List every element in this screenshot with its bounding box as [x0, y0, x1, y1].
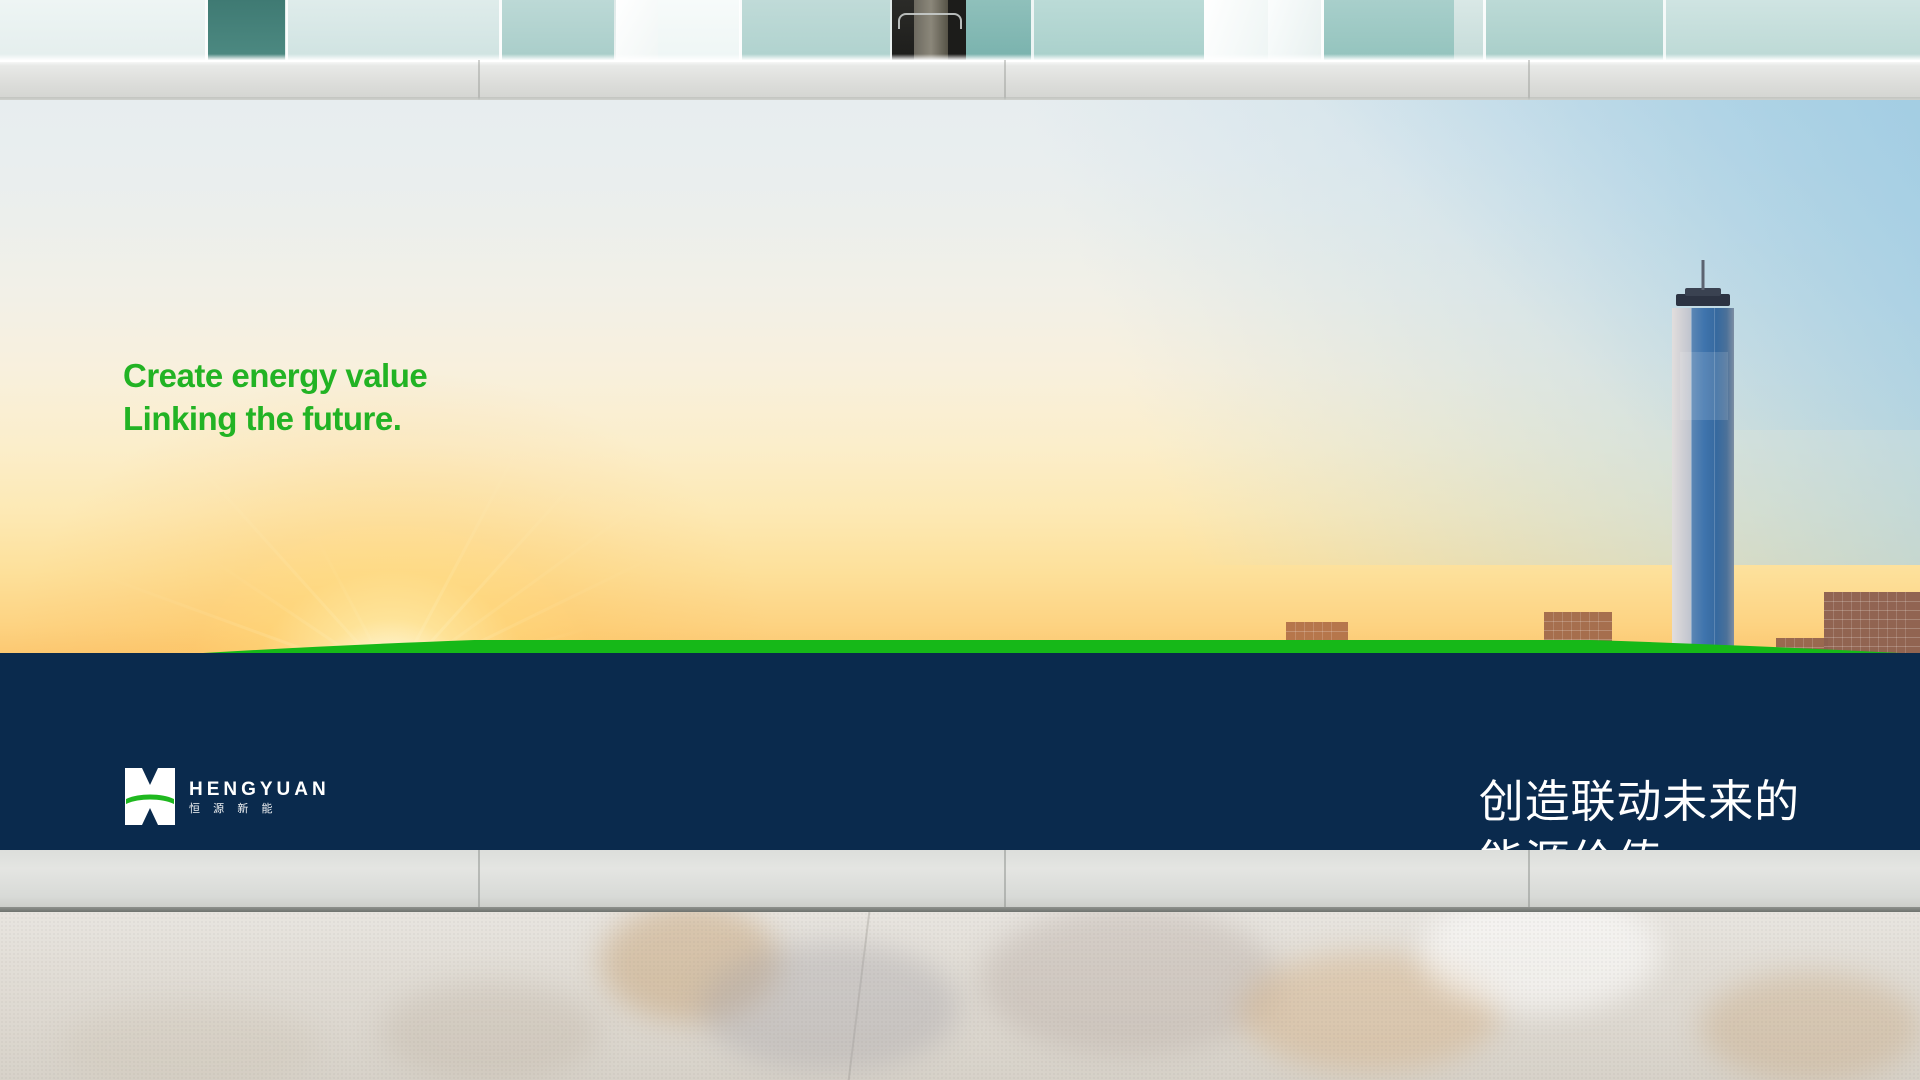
tagline: Create energy value Linking the future. — [123, 355, 427, 440]
billboard-scene: Create energy value Linking the future. … — [0, 0, 1920, 1080]
upper-concrete-ledge — [0, 60, 1920, 100]
glass-facade — [0, 0, 1920, 60]
concrete-floor — [0, 912, 1920, 1080]
lower-concrete-kerb — [0, 850, 1920, 912]
brand-logo-lockup: HENGYUAN 恒 源 新 能 — [125, 768, 330, 825]
brand-name-cn: 恒 源 新 能 — [189, 804, 330, 815]
wall-fixture — [898, 13, 962, 29]
sky-cool-wash-2 — [1267, 100, 1920, 430]
hengyuan-logo-mark — [125, 768, 175, 825]
headline-chinese: 创造联动未来的 能源价值 — [1479, 772, 1800, 850]
brand-name-en: HENGYUAN — [189, 780, 330, 799]
billboard-panel: Create energy value Linking the future. … — [0, 100, 1920, 850]
